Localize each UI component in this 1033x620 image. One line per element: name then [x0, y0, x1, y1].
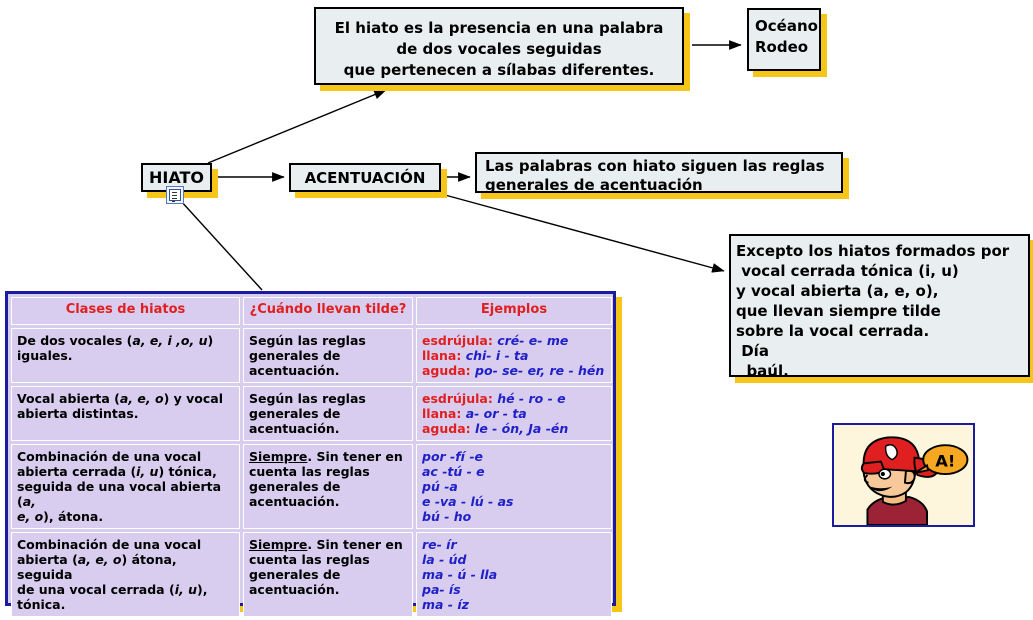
cell-tilde: Según las reglasgenerales deacentuación. [243, 386, 413, 441]
oceano-rodeo-box: Océano Rodeo [747, 8, 821, 71]
excepto-line-5: sobre la vocal cerrada. [736, 321, 1028, 341]
hiatos-table: Clases de hiatos ¿Cuándo llevan tilde? E… [5, 291, 616, 606]
cell-clase: Combinación de una vocalabierta cerrada … [11, 444, 240, 529]
speech-bubble-text: A! [935, 451, 955, 470]
diagram-canvas: El hiato es la presencia en una palabra … [0, 0, 1033, 614]
excepto-line-2: vocal cerrada tónica (i, u) [736, 261, 1028, 281]
cell-tilde: Siempre. Sin tener encuenta las reglasge… [243, 532, 413, 617]
cell-ejemplos: por -fí -eac -tú - epú -ae -va - lú - as… [416, 444, 612, 529]
excepto-line-4: que llevan siempre tilde [736, 301, 1028, 321]
table-row: Vocal abierta (a, e, o) y vocalabierta d… [11, 386, 612, 441]
document-image-icon[interactable] [166, 186, 184, 204]
acentuacion-label: ACENTUACIÓN [291, 165, 439, 191]
reglas-line-1: Las palabras con hiato siguen las reglas [485, 157, 841, 176]
cell-clase: Vocal abierta (a, e, o) y vocalabierta d… [11, 386, 240, 441]
definition-box: El hiato es la presencia en una palabra … [314, 7, 684, 85]
reglas-generales-box: Las palabras con hiato siguen las reglas… [475, 152, 843, 193]
definition-line-3: que pertenecen a sílabas diferentes. [316, 60, 682, 81]
excepto-box: Excepto los hiatos formados por vocal ce… [729, 234, 1030, 377]
definition-line-1: El hiato es la presencia en una palabra [316, 18, 682, 39]
cell-tilde: Según las reglasgenerales deacentuación. [243, 328, 413, 383]
oceano-line-1: Océano [755, 16, 819, 37]
excepto-line-3: y vocal abierta (a, e, o), [736, 281, 1028, 301]
table-row: Combinación de una vocalabierta (a, e, o… [11, 532, 612, 617]
table-header-tilde: ¿Cuándo llevan tilde? [243, 297, 413, 325]
table-row: Combinación de una vocalabierta cerrada … [11, 444, 612, 529]
acentuacion-box: ACENTUACIÓN [289, 163, 441, 192]
cell-ejemplos: esdrújula: cré- e- mellana: chi- i - taa… [416, 328, 612, 383]
arrow-acentuacion-to-excepto [434, 192, 724, 271]
excepto-line-7: baúl. [736, 361, 1028, 381]
definition-line-2: de dos vocales seguidas [316, 39, 682, 60]
oceano-line-2: Rodeo [755, 37, 819, 58]
hiatos-table-grid: Clases de hiatos ¿Cuándo llevan tilde? E… [8, 294, 615, 620]
cell-clase: Combinación de una vocalabierta (a, e, o… [11, 532, 240, 617]
table-header-ejemplos: Ejemplos [416, 297, 612, 325]
excepto-line-6: Día [736, 341, 1028, 361]
reglas-line-2: generales de acentuación [485, 176, 841, 195]
table-row: De dos vocales (a, e, i ,o, u)iguales. S… [11, 328, 612, 383]
cartoon-illustration: A! [832, 423, 975, 527]
arrow-hiato-to-table [180, 200, 262, 290]
cell-ejemplos: re- írla - údma - ú - llapa- ísma - íz [416, 532, 612, 617]
cell-tilde: Siempre. Sin tener encuenta las reglasge… [243, 444, 413, 529]
table-header-row: Clases de hiatos ¿Cuándo llevan tilde? E… [11, 297, 612, 325]
arrow-hiato-to-definition [208, 90, 386, 163]
cell-ejemplos: esdrújula: hé - ro - ellana: a- or - taa… [416, 386, 612, 441]
cell-clase: De dos vocales (a, e, i ,o, u)iguales. [11, 328, 240, 383]
boy-with-cap-icon: A! [834, 425, 973, 525]
table-header-clases: Clases de hiatos [11, 297, 240, 325]
document-image-icon-inner [169, 189, 181, 201]
excepto-line-1: Excepto los hiatos formados por [736, 241, 1028, 261]
